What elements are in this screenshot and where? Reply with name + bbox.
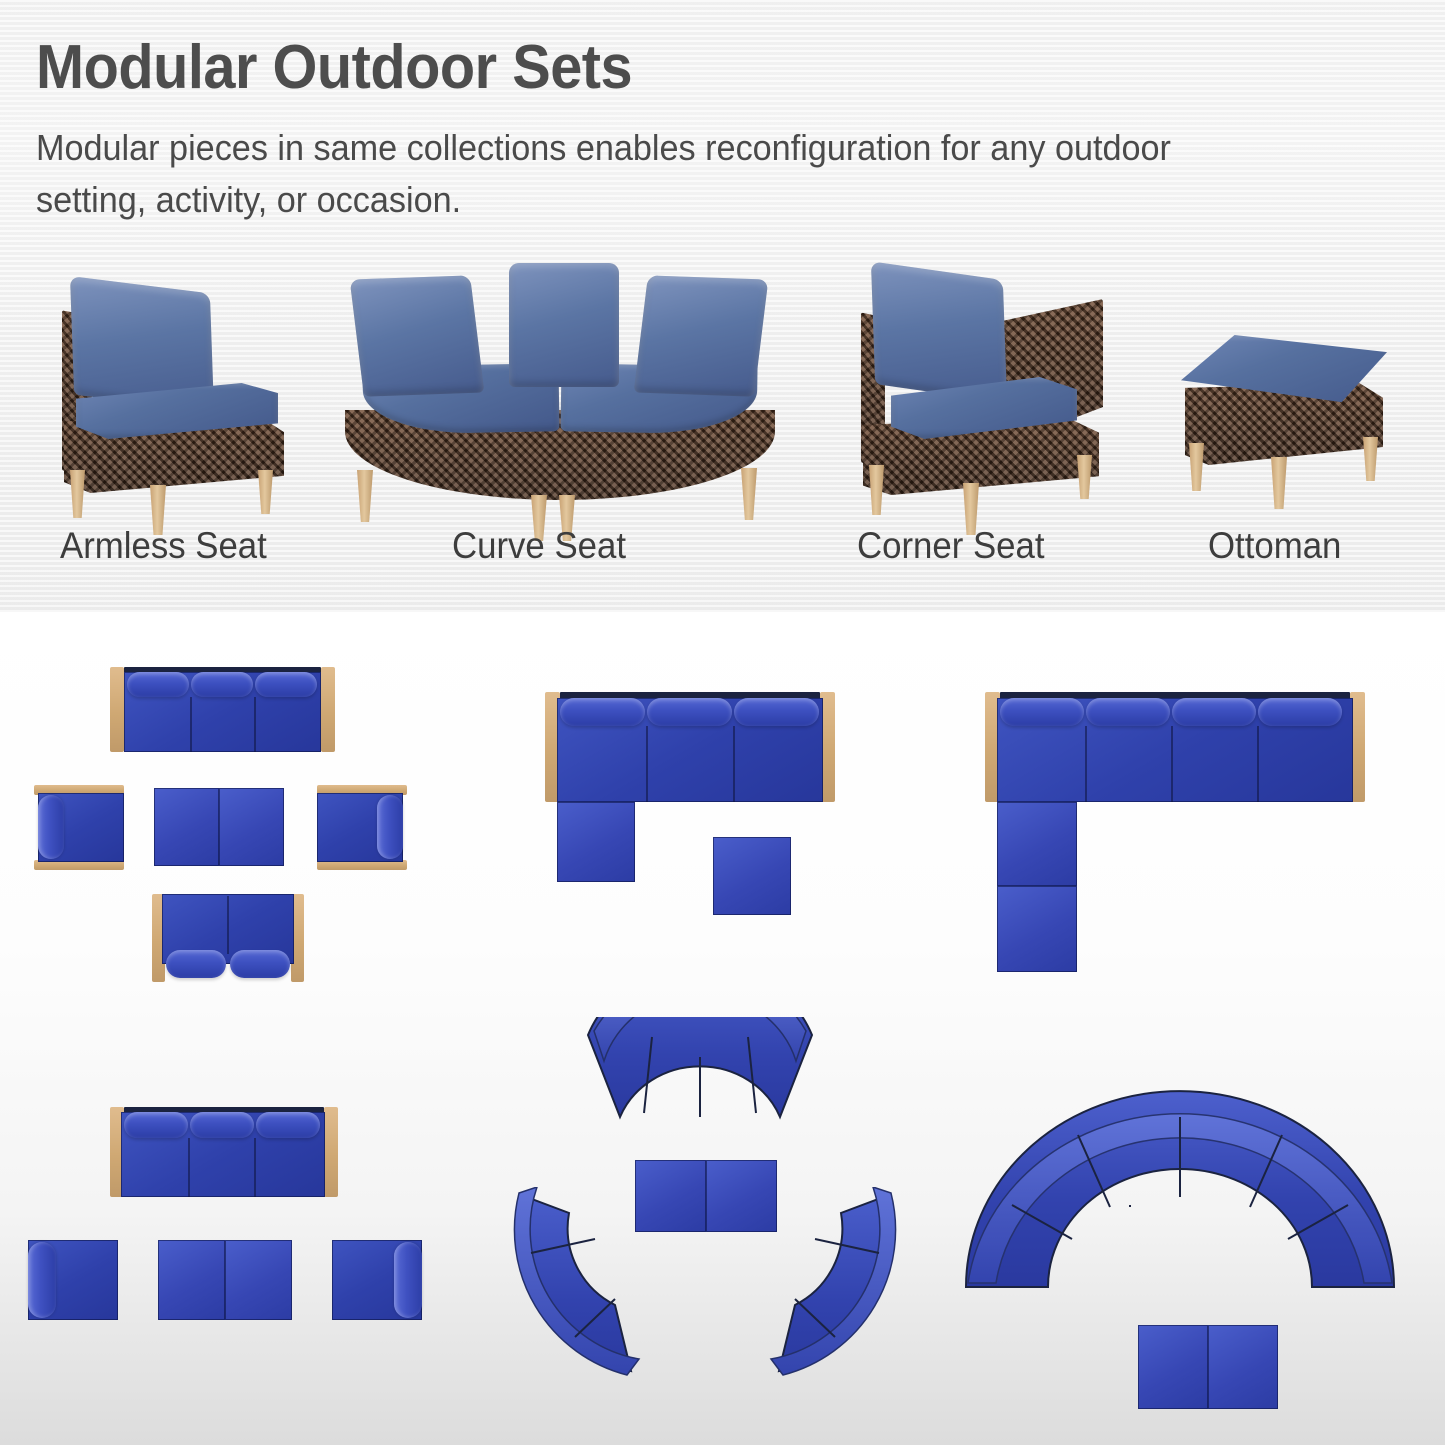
- corner-chair-right: [317, 785, 407, 870]
- curve-back-cushion-left: [350, 275, 485, 396]
- seat-divider-1: [190, 697, 192, 752]
- corner-chair-left: [34, 785, 124, 870]
- corner-module-right: [332, 1240, 422, 1320]
- frame-left: [110, 667, 124, 752]
- ottoman-center: [154, 788, 284, 866]
- product-photo-row: [0, 245, 1445, 535]
- product-photo-corner-seat: [845, 257, 1135, 532]
- ottoman-half-left: [158, 1240, 225, 1320]
- extension-cushion-1: [997, 802, 1077, 886]
- sofa-three-seat: [110, 1107, 338, 1197]
- product-photo-armless-seat: [40, 265, 320, 535]
- back-cushion-1: [166, 950, 226, 978]
- back-cushion-4: [1258, 698, 1342, 726]
- sectional-back-row: [985, 692, 1365, 802]
- ottoman-leg-front: [1271, 457, 1287, 509]
- seat-divider-1: [646, 726, 648, 802]
- product-photo-ottoman: [1175, 325, 1415, 525]
- extension-cushion: [557, 802, 635, 882]
- seat-divider-3: [1257, 726, 1259, 802]
- configuration-l-sectional-large: [985, 692, 1385, 992]
- bolster-cushion: [38, 795, 64, 859]
- ottoman-half-right: [1208, 1325, 1278, 1409]
- chaise-extension: [557, 802, 635, 882]
- seat-divider-2: [254, 697, 256, 752]
- back-cushion-3: [734, 698, 819, 726]
- back-cushion-2: [230, 950, 290, 978]
- curve-back-cushion-right: [634, 275, 769, 396]
- ottoman-half-right: [219, 788, 284, 866]
- configuration-diagram-area: [0, 612, 1445, 1445]
- bolster-cushion: [394, 1242, 422, 1318]
- bolster-cushion: [377, 795, 403, 859]
- curve-module-bottom-left: [503, 1187, 653, 1387]
- configuration-sofa-plus-modules: [18, 1107, 438, 1337]
- back-cushion-1: [1000, 698, 1084, 726]
- page-subtitle: Modular pieces in same collections enabl…: [36, 122, 1271, 226]
- ottoman-half-left: [154, 788, 219, 866]
- ottoman-wicker-base: [1185, 383, 1383, 465]
- caption-armless-seat: Armless Seat: [60, 525, 267, 567]
- ottoman-leg-left: [1189, 443, 1204, 491]
- frame-right: [324, 1107, 338, 1197]
- ottoman-leg-right: [1363, 437, 1378, 481]
- horseshoe-seating: [960, 1087, 1400, 1297]
- back-cushion-2: [647, 698, 732, 726]
- corner-module-left: [28, 1240, 118, 1320]
- seat-divider: [227, 896, 229, 954]
- extension-cushion-2: [997, 886, 1077, 972]
- seat-divider-2: [733, 726, 735, 802]
- curve-module-bottom-right: [757, 1187, 907, 1387]
- curve-back-cushion-center: [509, 263, 619, 387]
- back-cushion-1: [127, 672, 189, 697]
- sofa-three-seat: [110, 667, 335, 752]
- back-cushion-1: [124, 1112, 188, 1138]
- ottoman-center: [158, 1240, 292, 1320]
- infographic-page: Modular Outdoor Sets Modular pieces in s…: [0, 0, 1445, 1445]
- back-cushion-2: [190, 1112, 254, 1138]
- ottoman-center: [635, 1160, 777, 1232]
- curve-leg-left: [357, 470, 373, 522]
- hero-panel: Modular Outdoor Sets Modular pieces in s…: [0, 0, 1445, 612]
- ottoman: [1138, 1325, 1278, 1409]
- back-cushion-1: [560, 698, 645, 726]
- frame-right: [321, 667, 335, 752]
- loveseat-bottom: [152, 894, 304, 982]
- sectional-side-leg: [997, 802, 1077, 972]
- bolster-cushion: [28, 1242, 56, 1318]
- caption-curve-seat: Curve Seat: [452, 525, 626, 567]
- configuration-horseshoe-set: [960, 1087, 1420, 1417]
- configuration-l-sectional-small: [545, 692, 865, 962]
- seat-divider-2: [1171, 726, 1173, 802]
- back-cushion-2: [1086, 698, 1170, 726]
- corner-leg-left: [869, 465, 884, 515]
- sectional-back-row: [545, 692, 835, 802]
- product-caption-row: Armless Seat Curve Seat Corner Seat Otto…: [0, 525, 1445, 585]
- curve-leg-right: [741, 468, 757, 520]
- configuration-conversation-set: [20, 657, 420, 987]
- back-cushion-2: [191, 672, 253, 697]
- ottoman-half-right: [225, 1240, 292, 1320]
- ottoman-cushion: [713, 837, 791, 915]
- page-title: Modular Outdoor Sets: [36, 36, 632, 100]
- back-cushion-3: [256, 1112, 320, 1138]
- ottoman-half-left: [1138, 1325, 1208, 1409]
- back-cushion-3: [1172, 698, 1256, 726]
- back-cushion-3: [255, 672, 317, 697]
- seat-divider-1: [188, 1138, 190, 1197]
- ottoman: [713, 837, 791, 915]
- corner-back-cushion: [871, 261, 1007, 402]
- armless-leg-front-left: [70, 470, 85, 518]
- armless-leg-back-right: [258, 470, 273, 514]
- curve-module-top: [580, 1017, 820, 1137]
- seat-divider-1: [1085, 726, 1087, 802]
- product-photo-curve-seat: [335, 255, 805, 535]
- seat-divider-2: [254, 1138, 256, 1197]
- caption-ottoman: Ottoman: [1208, 525, 1341, 567]
- configuration-curved-circle-set: [495, 1017, 915, 1407]
- caption-corner-seat: Corner Seat: [857, 525, 1045, 567]
- corner-leg-right: [1077, 455, 1092, 499]
